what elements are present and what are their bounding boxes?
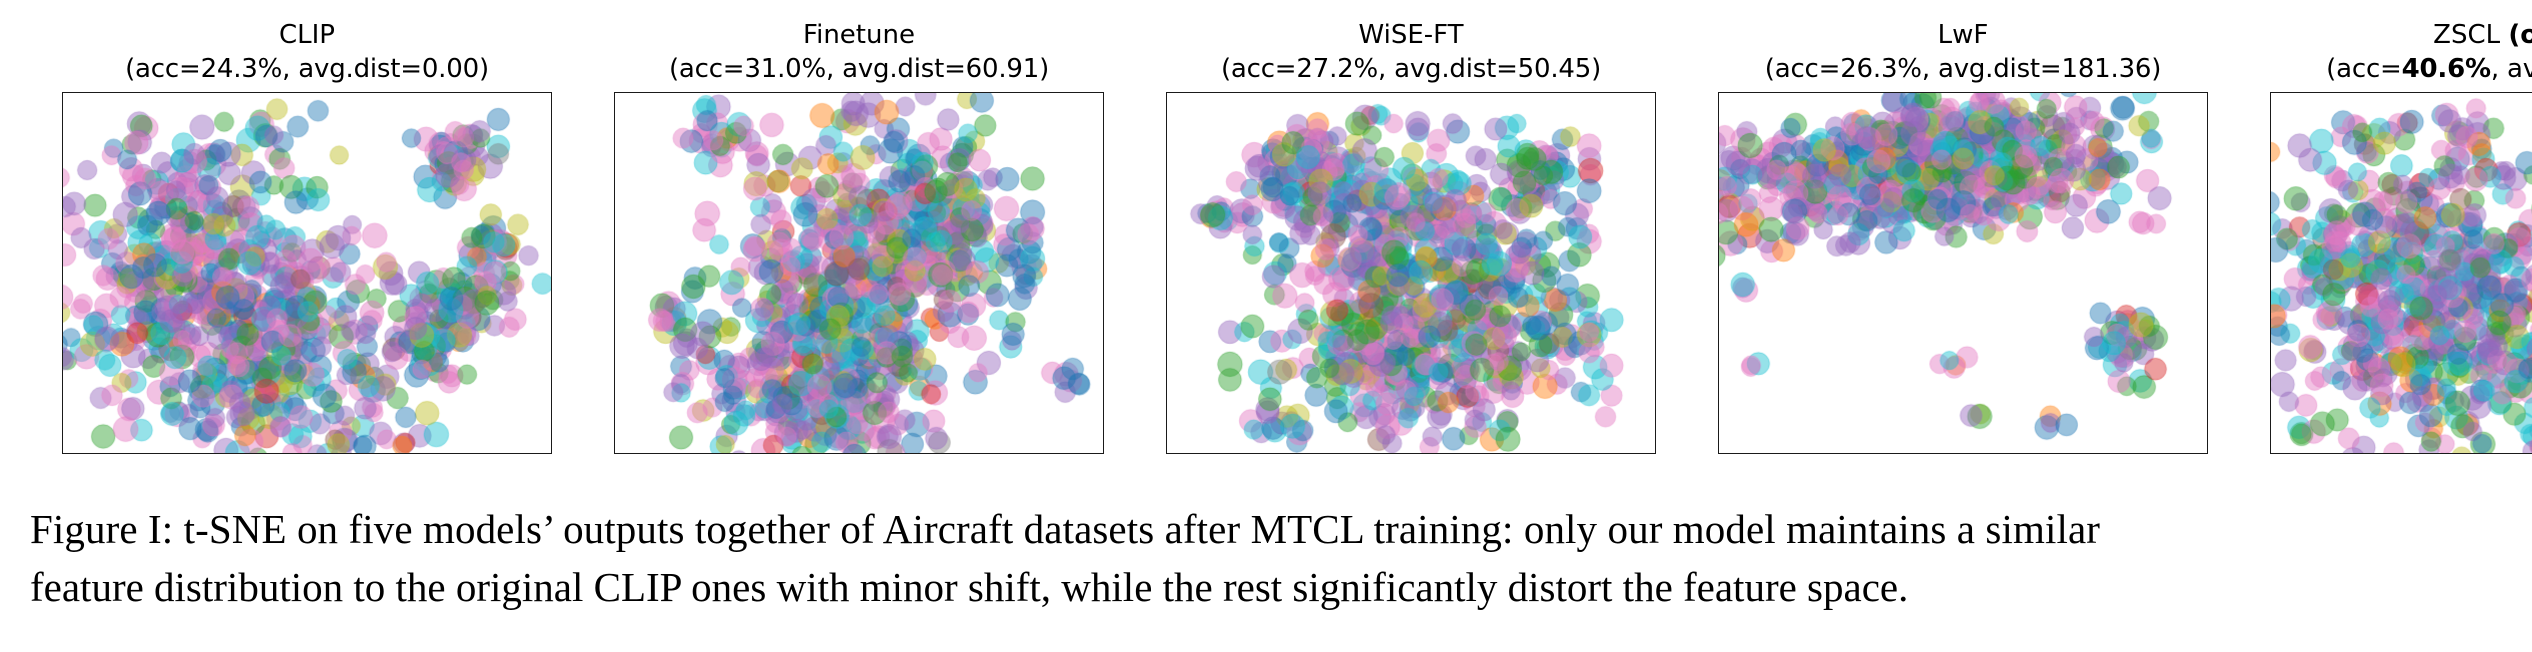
metric-dist-value: 60.91 [966, 54, 1039, 84]
panel-metrics-finetune: (acc=31.0%, avg.dist=60.91) [669, 52, 1049, 86]
tsne-panel-zscl: ZSCL (ours)(acc=40.6%, avg.dist=4.49) [2270, 0, 2532, 454]
metric-dist-label: , avg.dist= [2491, 54, 2532, 84]
tsne-panel-lwf: LwF(acc=26.3%, avg.dist=181.36) [1718, 0, 2208, 454]
metric-dist-label: , avg.dist= [1922, 54, 2062, 84]
metric-close-paren: ) [479, 54, 489, 84]
panel-metrics-clip: (acc=24.3%, avg.dist=0.00) [125, 52, 489, 86]
metric-dist-value: 181.36 [2062, 54, 2152, 84]
plot-box-zscl [2270, 92, 2532, 454]
metric-acc-value: 27.2% [1296, 54, 1378, 84]
scatter-canvas-finetune [615, 93, 1103, 453]
metric-dist-value: 0.00 [422, 54, 479, 84]
plot-box-lwf [1718, 92, 2208, 454]
panel-title-lwf: LwF [1938, 18, 1989, 52]
tsne-panel-clip: CLIP(acc=24.3%, avg.dist=0.00) [62, 0, 552, 454]
tsne-panel-finetune: Finetune(acc=31.0%, avg.dist=60.91) [614, 0, 1104, 454]
metric-close-paren: ) [1591, 54, 1601, 84]
metric-acc-value: 40.6% [2402, 54, 2491, 84]
panel-metrics-lwf: (acc=26.3%, avg.dist=181.36) [1765, 52, 2161, 86]
figure-caption: Figure I: t-SNE on five models’ outputs … [30, 500, 2508, 616]
metric-close-paren: ) [2151, 54, 2161, 84]
caption-line-1: Figure I: t-SNE on five models’ outputs … [30, 500, 2508, 558]
panel-title-clip: CLIP [279, 18, 335, 52]
scatter-canvas-lwf [1719, 93, 2207, 453]
figure-root: CLIP(acc=24.3%, avg.dist=0.00)Finetune(a… [0, 0, 2532, 652]
plot-box-clip [62, 92, 552, 454]
tsne-panel-wise-ft: WiSE-FT(acc=27.2%, avg.dist=50.45) [1166, 0, 1656, 454]
metric-acc-label: (acc= [1765, 54, 1840, 84]
metric-dist-value: 50.45 [1518, 54, 1591, 84]
metric-acc-value: 24.3% [201, 54, 283, 84]
panel-title-wise-ft: WiSE-FT [1358, 18, 1463, 52]
caption-line-2: feature distribution to the original CLI… [30, 558, 2508, 616]
scatter-canvas-clip [63, 93, 551, 453]
metric-acc-label: (acc= [2326, 54, 2401, 84]
scatter-canvas-zscl [2271, 93, 2532, 453]
metric-acc-label: (acc= [669, 54, 744, 84]
metric-acc-label: (acc= [125, 54, 200, 84]
panel-title-ours-tag: (ours) [2508, 20, 2532, 50]
metric-acc-value: 26.3% [1840, 54, 1922, 84]
panel-metrics-wise-ft: (acc=27.2%, avg.dist=50.45) [1221, 52, 1601, 86]
panel-metrics-zscl: (acc=40.6%, avg.dist=4.49) [2326, 52, 2532, 86]
scatter-canvas-wise-ft [1167, 93, 1655, 453]
plot-box-wise-ft [1166, 92, 1656, 454]
metric-acc-value: 31.0% [744, 54, 826, 84]
tsne-panel-row: CLIP(acc=24.3%, avg.dist=0.00)Finetune(a… [0, 0, 2532, 490]
panel-title-finetune: Finetune [803, 18, 915, 52]
metric-close-paren: ) [1039, 54, 1049, 84]
metric-acc-label: (acc= [1221, 54, 1296, 84]
plot-box-finetune [614, 92, 1104, 454]
metric-dist-label: , avg.dist= [826, 54, 966, 84]
panel-title-zscl: ZSCL (ours) [2433, 18, 2532, 52]
metric-dist-label: , avg.dist= [282, 54, 422, 84]
metric-dist-label: , avg.dist= [1378, 54, 1518, 84]
